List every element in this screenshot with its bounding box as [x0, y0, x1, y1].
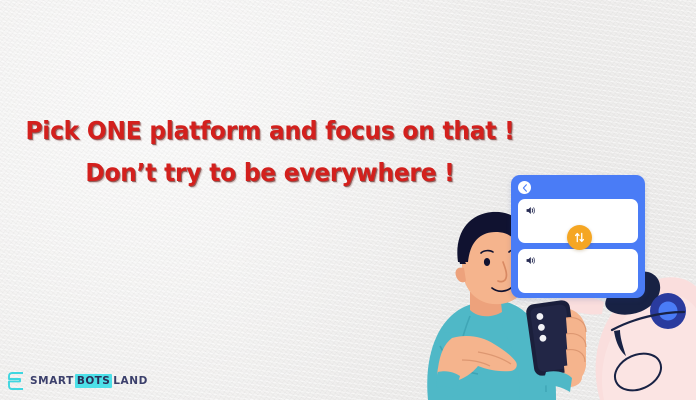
brand-logo-text: SMARTBOTSLAND [30, 374, 148, 388]
headline-line-1: Pick ONE platform and focus on that ! [25, 116, 514, 145]
headline-line-2: Don’t try to be everywhere ! [19, 152, 521, 194]
logo-word-bots: BOTS [75, 374, 112, 388]
smartbotsland-s-icon [8, 372, 25, 390]
speaker-icon[interactable] [525, 205, 536, 216]
swap-languages-button[interactable] [567, 225, 592, 250]
poster-canvas: Pick ONE platform and focus on that ! Do… [0, 0, 696, 400]
chevron-left-icon [522, 184, 528, 192]
logo-word-smart: SMART [30, 375, 74, 387]
headline: Pick ONE platform and focus on that ! Do… [19, 110, 521, 194]
brand-logo[interactable]: SMARTBOTSLAND [8, 372, 148, 390]
target-text-card[interactable] [518, 249, 638, 293]
logo-word-land: LAND [113, 375, 148, 387]
speaker-icon[interactable] [525, 255, 536, 266]
translator-panel[interactable] [511, 175, 645, 298]
swap-vertical-icon [573, 231, 586, 244]
